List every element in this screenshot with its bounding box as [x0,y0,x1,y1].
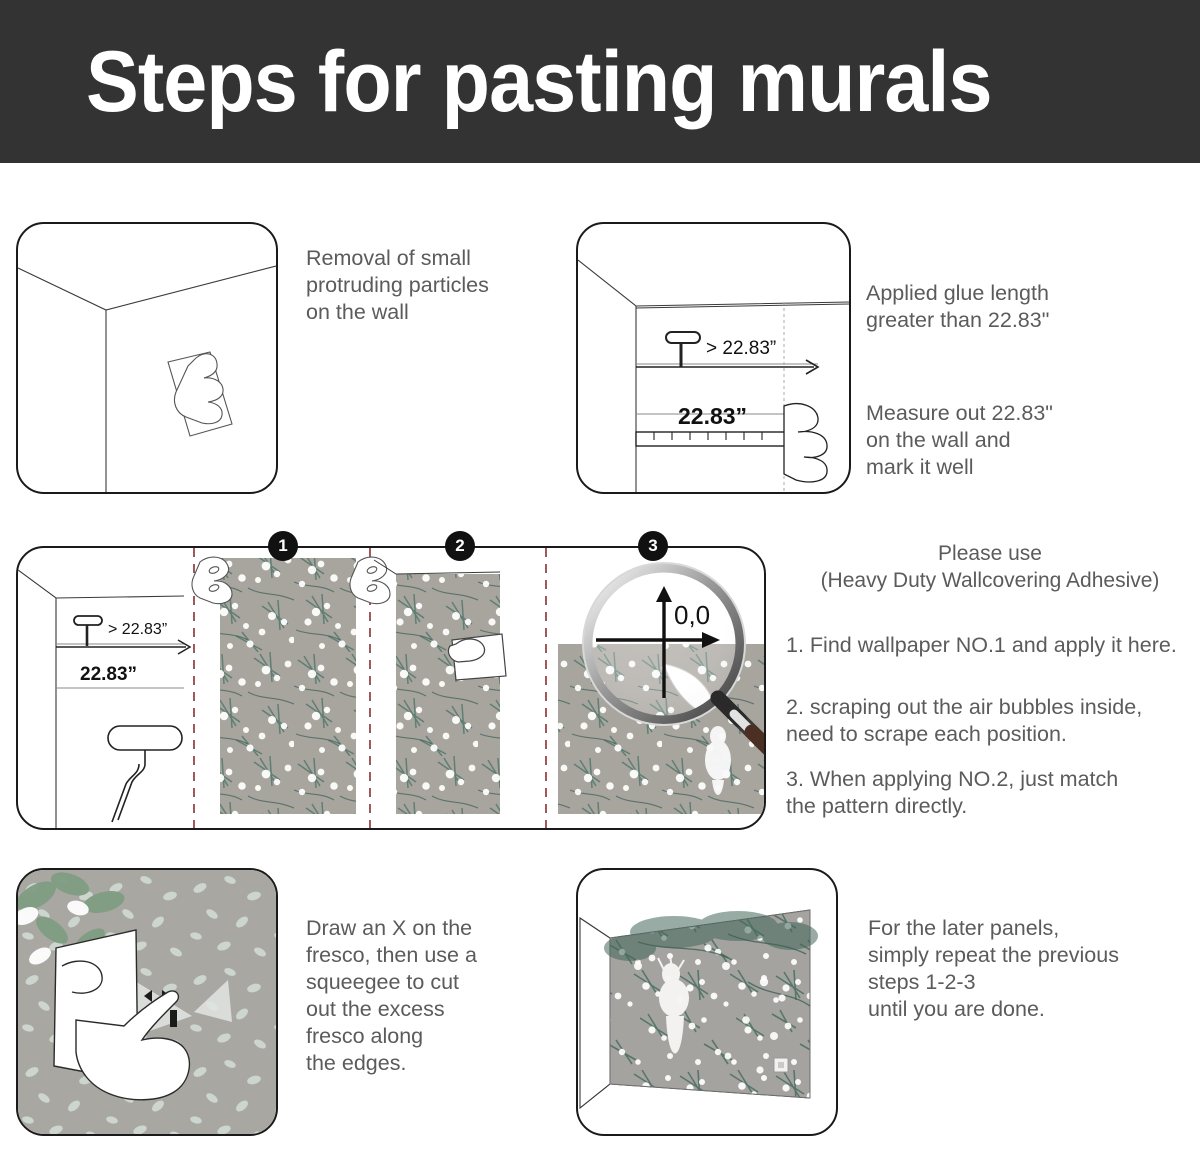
panel-finished-room [576,868,838,1136]
step-badge-2: 2 [445,531,475,561]
glue-length-label: > 22.83” [706,338,776,359]
hand-icon [784,404,827,482]
caption-trim-excess: Draw an X on the fresco, then use a sque… [306,915,556,1077]
step-badge-1: 1 [268,531,298,561]
paint-roller-icon [108,726,182,822]
light-switch-icon [774,1058,788,1072]
caption-step-2: 2. scraping out the air bubbles inside, … [786,694,1186,748]
caption-step-3: 3. When applying NO.2, just match the pa… [786,766,1186,820]
finished-room-illustration [578,870,836,1134]
infographic-page: Steps for pasting murals Removal of smal… [0,0,1200,1152]
wall-corner-illustration [18,224,276,492]
origin-label: 0,0 [674,600,710,630]
wallpaper-strip-1 [192,557,390,814]
caption-glue-length: Applied glue length greater than 22.83" [866,280,1186,334]
panel-glue-and-measure: > 22.83” 22.83” [576,222,851,494]
wall-measure-section: > 22.83” 22.83” [18,570,190,828]
glue-roller-icon [74,616,102,646]
glue-measure-illustration: > 22.83” 22.83” [578,224,849,492]
panel-wall-preparation [16,222,278,494]
caption-step-1: 1. Find wallpaper NO.1 and apply it here… [786,632,1190,659]
caption-repeat-panels: For the later panels, simply repeat the … [868,915,1200,1023]
ruler-icon [636,432,788,446]
apply-wallpaper-illustration: > 22.83” 22.83” [18,548,764,828]
measure-label: 22.83” [678,403,747,429]
glue-direction-arrow [636,360,818,374]
panel-trim-excess [16,868,278,1136]
glue-roller-icon [666,332,700,367]
step-badge-3: 3 [638,531,668,561]
panel-apply-wallpaper: > 22.83” 22.83” [16,546,766,830]
header-banner: Steps for pasting murals [0,0,1200,163]
finished-mural [604,910,818,1098]
caption-adhesive-heading: Please use (Heavy Duty Wallcovering Adhe… [790,540,1190,594]
caption-measure-wall: Measure out 22.83" on the wall and mark … [866,400,1186,481]
wallpaper-strip-2 [374,560,506,814]
glue-direction-arrow [56,640,190,654]
page-title: Steps for pasting murals [86,32,992,132]
caption-wall-preparation: Removal of small protruding particles on… [306,245,576,326]
glue-length-label: > 22.83” [108,621,167,638]
measure-label: 22.83” [80,664,137,685]
trim-excess-illustration [18,870,276,1134]
pattern-match-section: 0,0 [538,548,764,814]
